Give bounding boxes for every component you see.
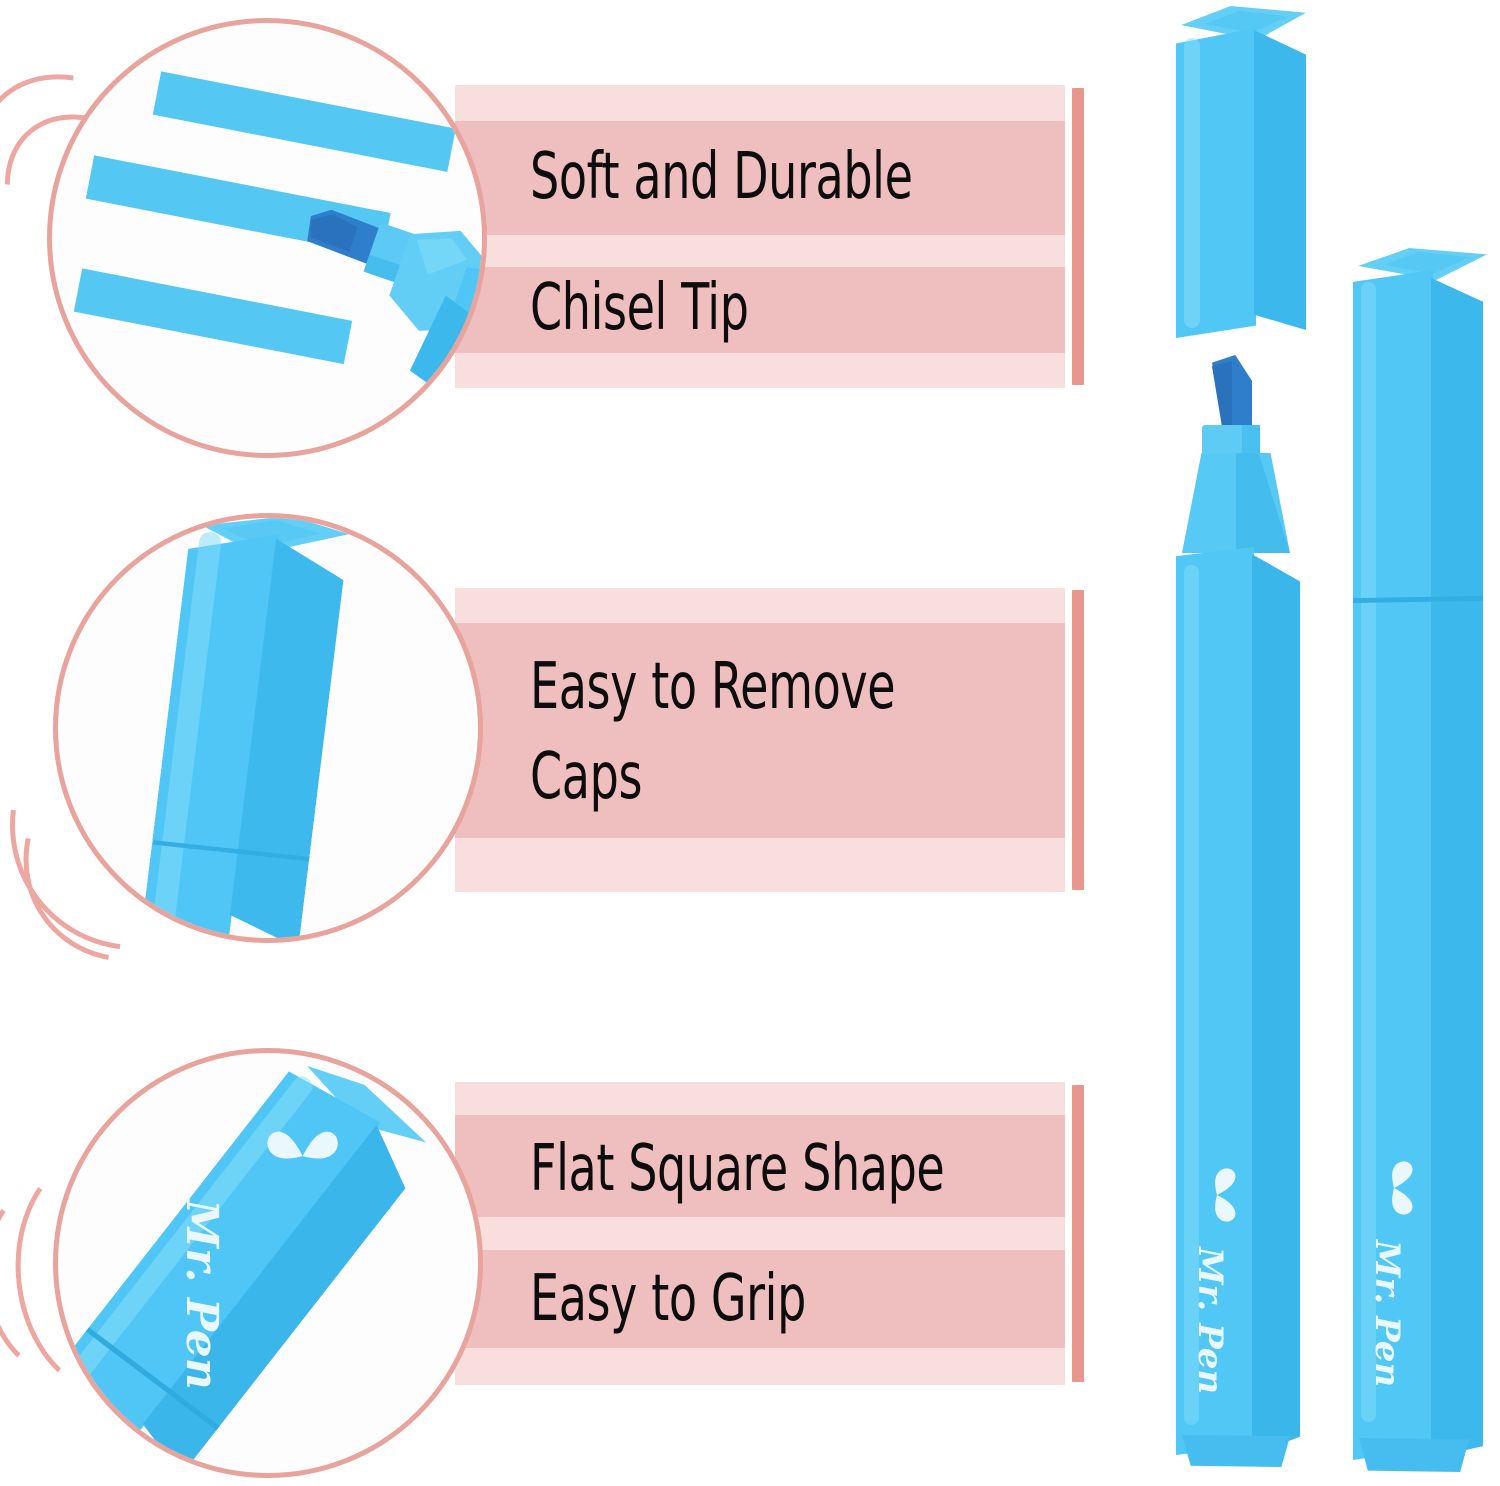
feature-3-line-2: Easy to Grip: [530, 1262, 806, 1336]
product-infographic: Soft and Durable Chisel Tip E: [0, 0, 1500, 1486]
tip-cone-side: [1236, 453, 1290, 553]
feature-2-line-2: Caps: [530, 740, 642, 814]
cap-side-face: [1431, 266, 1483, 1458]
feature-banner-3: [455, 1082, 1065, 1385]
band-light: [455, 1217, 1065, 1250]
accent-bar-3: [1072, 1085, 1084, 1382]
highlighter-capped: Mr. Pen: [1345, 248, 1500, 1478]
cap-specular-highlight: [1184, 38, 1200, 328]
felt-nib-shade: [1212, 361, 1232, 427]
highlight-stroke: [153, 71, 456, 171]
feature-3-line-1: Flat Square Shape: [530, 1132, 944, 1206]
band-light: [455, 1348, 1065, 1385]
callout-circle-flat-shape: Mr. Pen: [53, 1048, 483, 1478]
mustache-icon: [266, 1112, 340, 1186]
accent-bar-2: [1072, 590, 1084, 890]
feature-1-line-2: Chisel Tip: [530, 271, 749, 345]
cap-side-face: [1254, 24, 1306, 330]
barrel-end-cap: [1359, 1438, 1469, 1472]
brand-wordmark: Mr. Pen: [176, 1199, 227, 1389]
highlighter-cap-detached: [1168, 6, 1320, 346]
mustache-icon: [1194, 1167, 1250, 1223]
brand-wordmark: Mr. Pen: [1367, 1240, 1407, 1387]
cap-closeup: [118, 513, 404, 943]
logo-cap-closeup: Mr. Pen: [53, 1048, 483, 1478]
barrel-end-cap: [1182, 1435, 1290, 1467]
band-light: [455, 235, 1065, 267]
callout-circle-chisel-tip: [47, 18, 487, 458]
band-light: [455, 85, 1065, 121]
band-light: [455, 838, 1065, 892]
accent-bar-1: [1072, 88, 1084, 385]
callout-circle-easy-caps: [53, 513, 483, 943]
feature-2-line-1: Easy to Remove: [530, 650, 895, 724]
mustache-icon: [1371, 1160, 1427, 1216]
band-light: [455, 588, 1065, 623]
felt-nib-shade: [306, 208, 359, 251]
band-light: [455, 353, 1065, 388]
band-light: [455, 1082, 1065, 1115]
barrel-side-face: [1252, 545, 1300, 1455]
highlighter-uncapped: Mr. Pen: [1168, 355, 1328, 1475]
brand-wordmark: Mr. Pen: [1190, 1247, 1230, 1394]
tip-collar-side: [1242, 425, 1260, 457]
feature-1-line-1: Soft and Durable: [530, 140, 913, 214]
